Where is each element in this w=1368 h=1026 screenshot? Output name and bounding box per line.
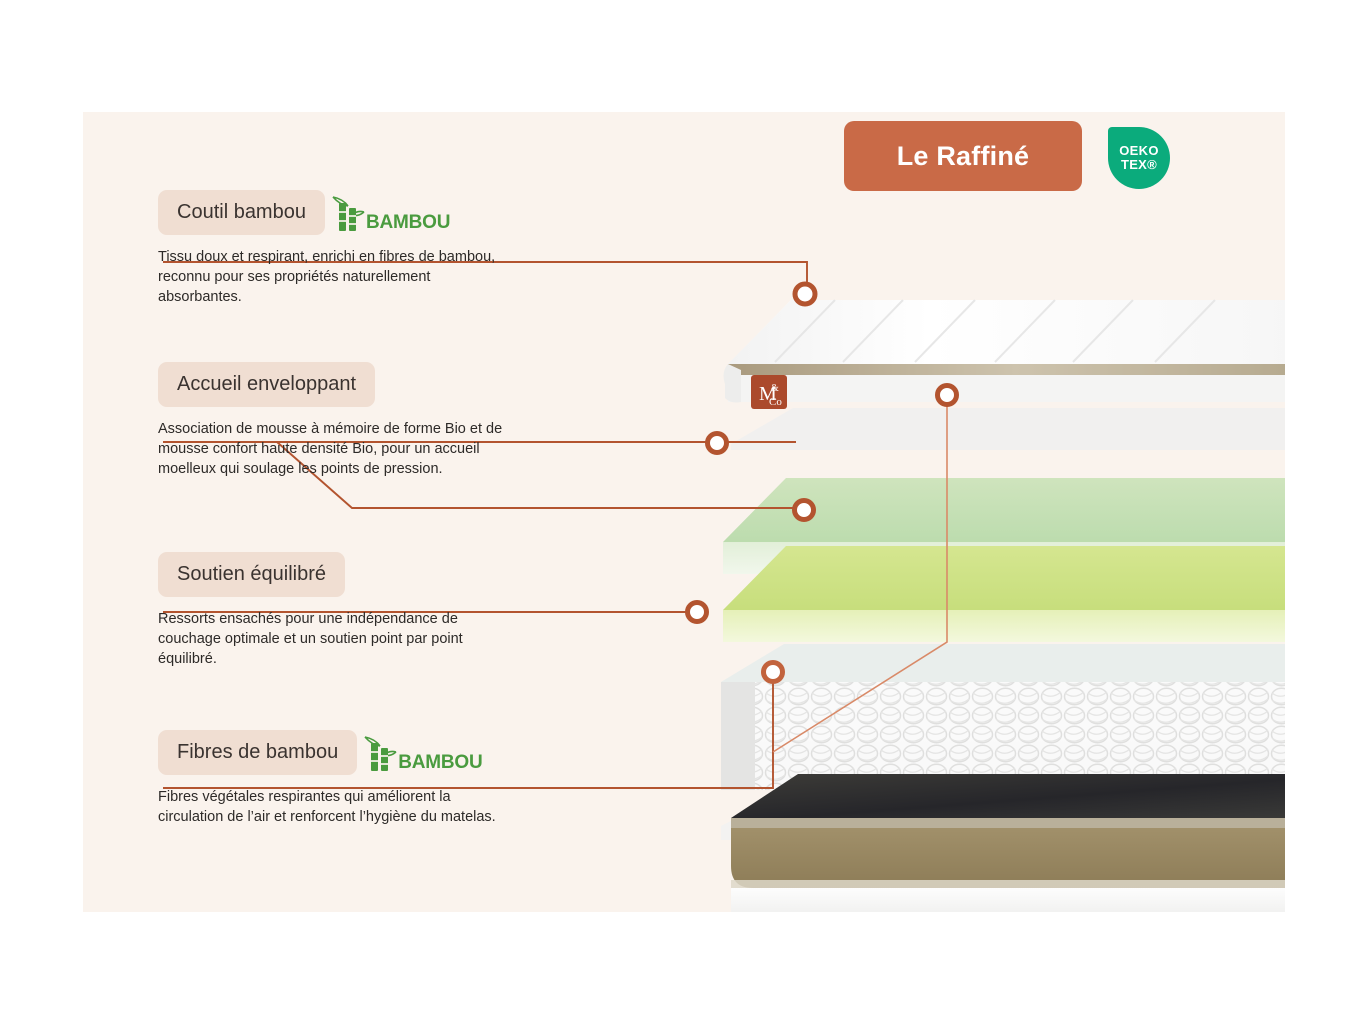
product-title-badge: Le Raffiné: [844, 121, 1082, 191]
bamboo-stalks-icon: [331, 193, 365, 233]
brand-tag-amp: &: [771, 383, 779, 394]
callout-description-accueil-enveloppant: Association de mousse à mémoire de forme…: [158, 419, 503, 479]
callout-label-soutien-equilibre: Soutien équilibré: [158, 552, 345, 597]
layer-base-bamboo-fibre: [731, 774, 1285, 912]
product-infographic-panel: M & Co: [83, 112, 1285, 912]
layer-pocket-springs: [721, 644, 1285, 790]
bamboo-logo-label: BAMBOU: [398, 753, 482, 772]
brand-tag-m-and-co: M & Co: [751, 375, 787, 409]
mattress-exploded-illustration: M & Co: [603, 212, 1285, 912]
callout-fibres-de-bambou: Fibres de bambou BAMBOU: [158, 730, 518, 827]
oeko-tex-line2: TEX®: [1121, 158, 1157, 172]
oeko-tex-certification-logo: OEKO TEX®: [1108, 127, 1170, 189]
callout-description-coutil-bambou: Tissu doux et respirant, enrichi en fibr…: [158, 247, 503, 307]
callout-description-fibres-de-bambou: Fibres végétales respirantes qui amélior…: [158, 787, 503, 827]
callout-accueil-enveloppant: Accueil enveloppant Association de mouss…: [158, 362, 518, 479]
bamboo-logo-label: BAMBOU: [366, 213, 450, 232]
callout-soutien-equilibre: Soutien équilibré Ressorts ensachés pour…: [158, 552, 518, 669]
cover-shadow-sheet: [731, 408, 1285, 450]
layer-comfort-foam: [723, 546, 1285, 642]
callout-label-fibres-de-bambou: Fibres de bambou: [158, 730, 357, 775]
oeko-tex-line1: OEKO: [1119, 144, 1158, 158]
callout-label-accueil-enveloppant: Accueil enveloppant: [158, 362, 375, 407]
layer-quilted-cover: [724, 300, 1285, 403]
product-title: Le Raffiné: [897, 141, 1030, 172]
brand-tag-co: Co: [769, 396, 782, 408]
bamboo-logo-coutil: BAMBOU: [331, 193, 450, 233]
callout-label-coutil-bambou: Coutil bambou: [158, 190, 325, 235]
bamboo-stalks-icon: [363, 733, 397, 773]
callout-description-soutien-equilibre: Ressorts ensachés pour une indépendance …: [158, 609, 503, 669]
bamboo-logo-fibres: BAMBOU: [363, 733, 482, 773]
callout-coutil-bambou: Coutil bambou BAMBOU: [158, 190, 518, 307]
